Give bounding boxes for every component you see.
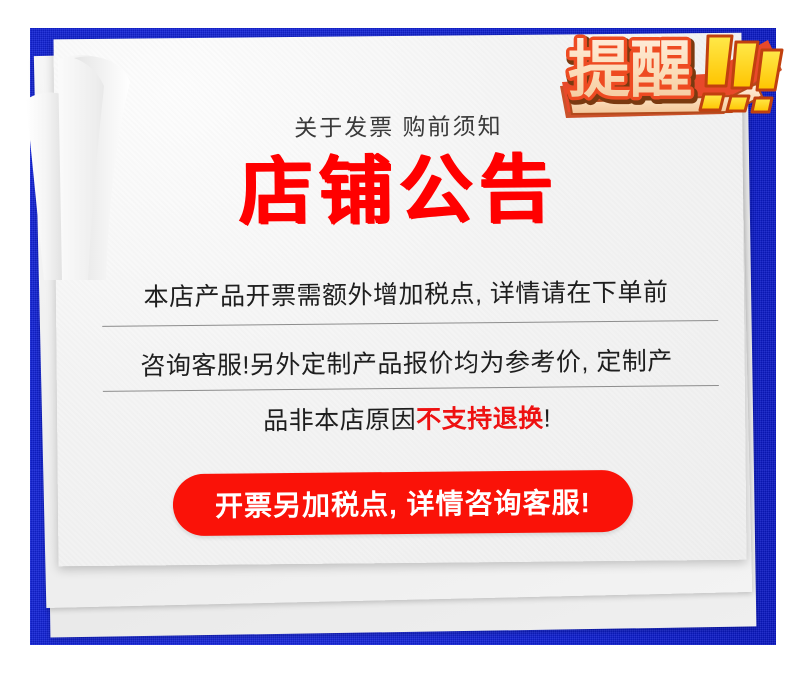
- page-title: 店铺公告: [0, 144, 799, 238]
- notice-line-2: 咨询客服!另外定制产品报价均为参考价, 定制产: [96, 341, 716, 383]
- notice-line-1: 本店产品开票需额外增加税点, 详情请在下单前: [96, 272, 716, 314]
- divider-1: [102, 320, 718, 327]
- notice-line-3: 品非本店原因不支持退换!: [97, 397, 717, 439]
- announcement-poster: 关于发票 购前须知 店铺公告 本店产品开票需额外增加税点, 详情请在下单前 咨询…: [0, 0, 800, 679]
- cta-button[interactable]: 开票另加税点, 详情咨询客服!: [173, 470, 634, 536]
- no-return-highlight: 不支持退换: [416, 405, 544, 434]
- notice-line-3-prefix: 品非本店原因: [263, 406, 416, 435]
- reminder-badge: 提醒 提醒 提醒: [556, 22, 800, 134]
- badge-text: 提醒: [568, 33, 692, 106]
- divider-2: [103, 385, 719, 392]
- notice-line-3-suffix: !: [544, 405, 552, 433]
